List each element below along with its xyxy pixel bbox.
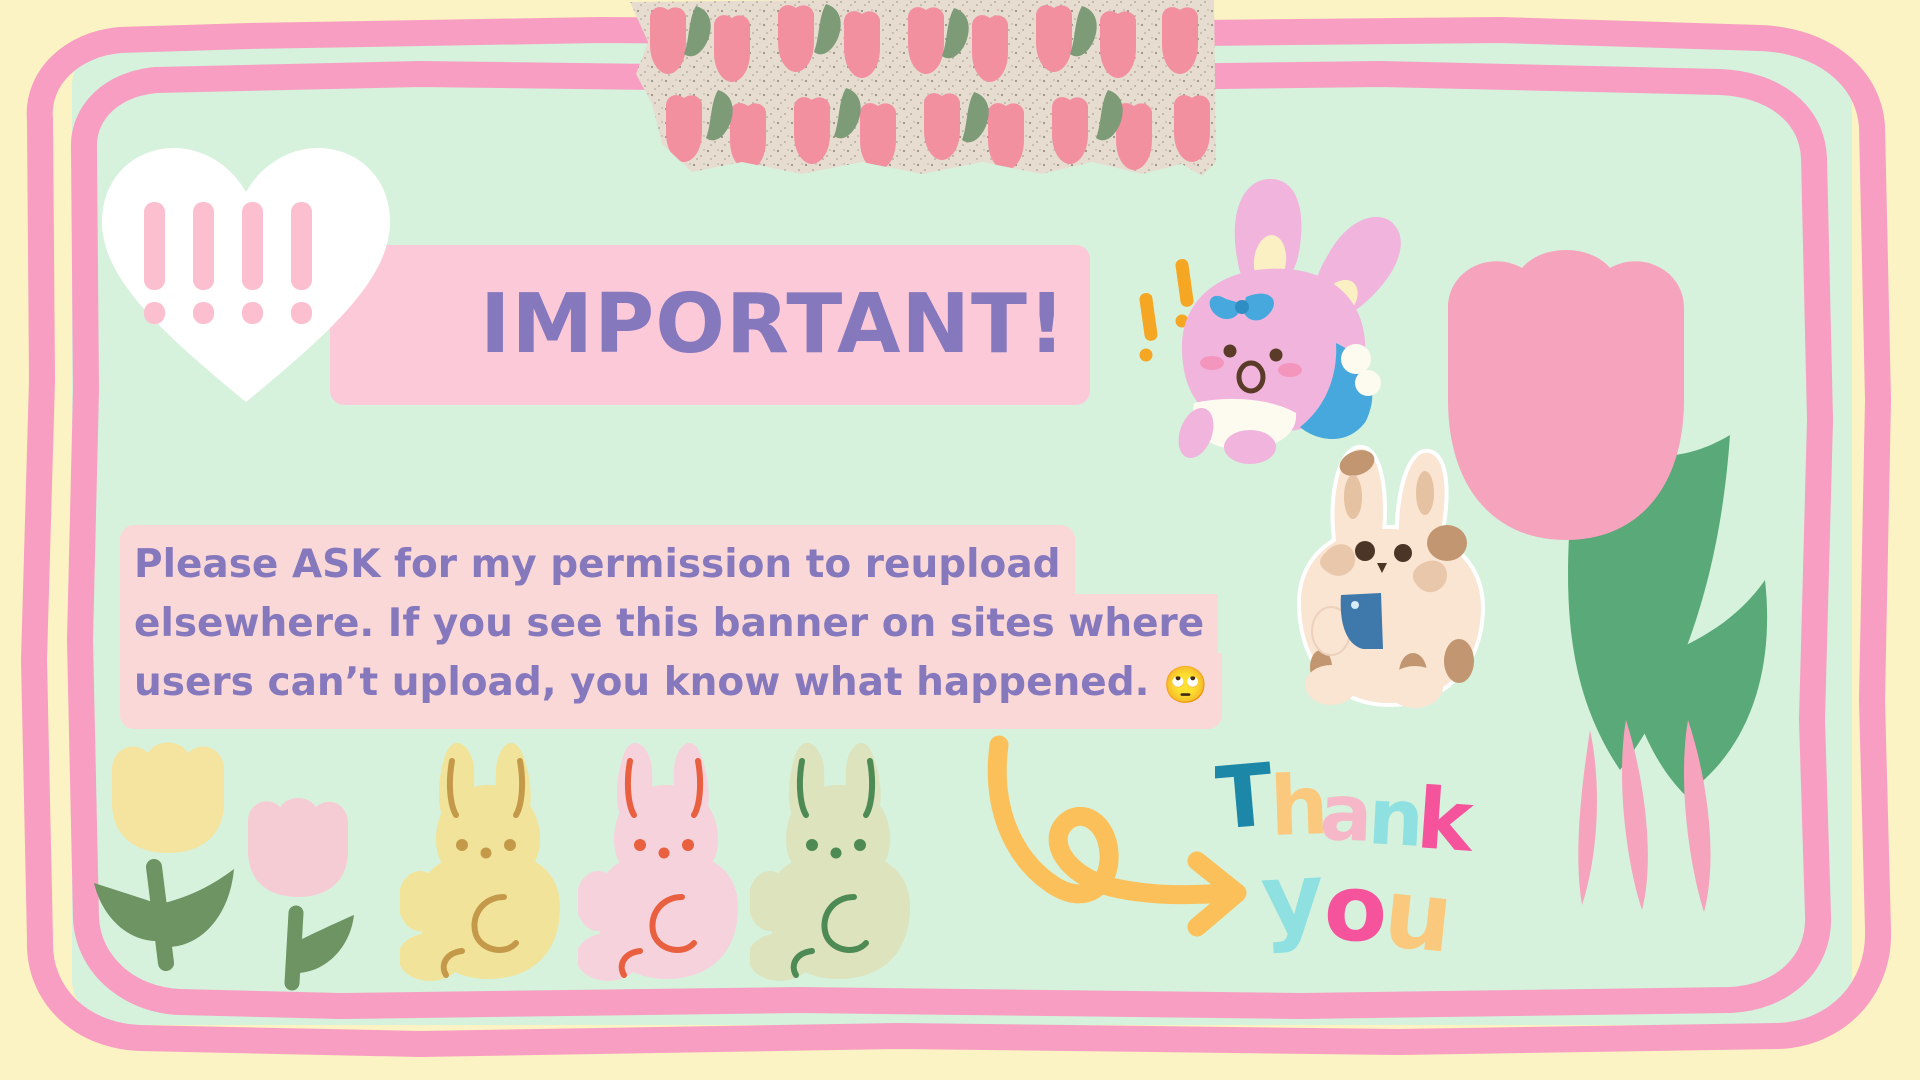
beige-bunny-icon bbox=[1285, 435, 1500, 725]
important-heading-bar: IMPORTANT! bbox=[330, 245, 1090, 405]
candy-bunny-green bbox=[750, 735, 930, 995]
thankyou-letter-k: k bbox=[1414, 769, 1479, 871]
page-title: IMPORTANT! bbox=[480, 284, 1066, 366]
candy-bunny-yellow bbox=[400, 735, 580, 995]
heart-icon bbox=[96, 140, 396, 410]
candy-bunny-pink bbox=[578, 735, 758, 995]
thankyou-letter-u: u bbox=[1379, 856, 1459, 965]
paragraph-line-2: elsewhere. If you see this banner on sit… bbox=[120, 594, 1218, 653]
notice-paragraph: Please ASK for my permission to reupload… bbox=[120, 525, 1222, 729]
thankyou-letter-a: a bbox=[1318, 768, 1374, 860]
pink-bunny-icon bbox=[1120, 165, 1430, 465]
important-banner: IMPORTANT! Please ASK for my permission … bbox=[0, 0, 1920, 1080]
thank-you-lettering: T h a n k y o u bbox=[1215, 755, 1515, 965]
rolling-eyes-emoji: 🙄 bbox=[1163, 665, 1208, 706]
paragraph-line-3-text: users can’t upload, you know what happen… bbox=[134, 660, 1149, 705]
washi-tape bbox=[622, 0, 1222, 184]
small-tulips-illustration bbox=[92, 735, 382, 995]
paragraph-line-3: users can’t upload, you know what happen… bbox=[120, 653, 1222, 729]
paragraph-line-1: Please ASK for my permission to reupload bbox=[120, 525, 1075, 594]
thankyou-letter-o: o bbox=[1322, 854, 1389, 963]
thankyou-letter-y: y bbox=[1258, 841, 1326, 956]
